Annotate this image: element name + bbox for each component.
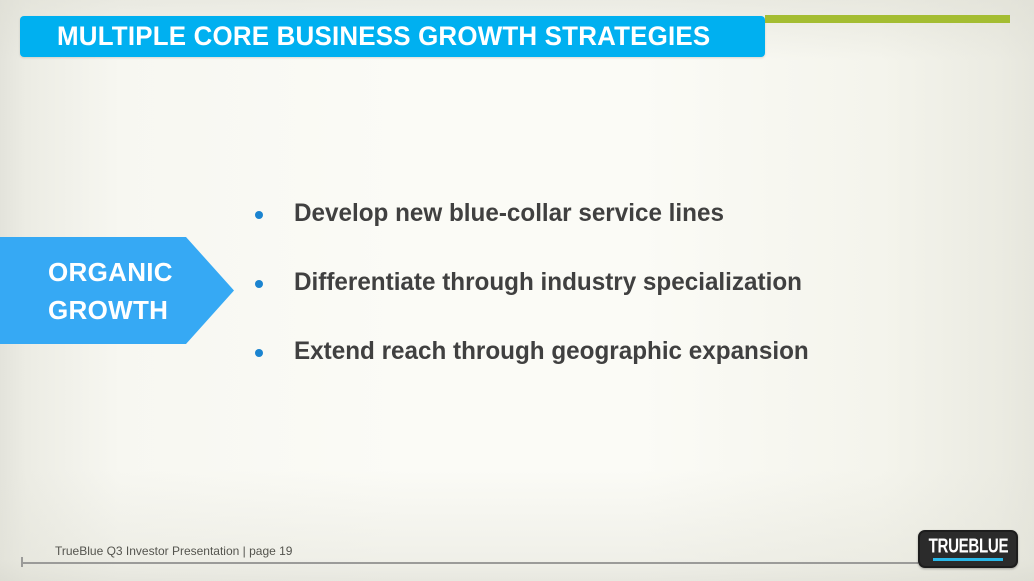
callout-label-line1: ORGANIC bbox=[48, 253, 173, 291]
bullet-text: Differentiate through industry specializ… bbox=[294, 265, 802, 299]
callout-label-line2: GROWTH bbox=[48, 291, 168, 329]
logo-underline-bar bbox=[933, 558, 1003, 561]
organic-growth-arrow-callout: ORGANIC GROWTH bbox=[0, 237, 234, 344]
page-title: MULTIPLE CORE BUSINESS GROWTH STRATEGIES bbox=[57, 21, 710, 52]
logo-wordmark: TRUEBLUE bbox=[928, 536, 1008, 556]
bullet-dot-icon bbox=[255, 211, 263, 219]
bullet-dot-icon bbox=[255, 349, 263, 357]
slide-canvas: MULTIPLE CORE BUSINESS GROWTH STRATEGIES… bbox=[0, 0, 1034, 581]
footer-note: TrueBlue Q3 Investor Presentation | page… bbox=[55, 544, 292, 558]
footer-divider bbox=[21, 562, 918, 564]
list-item: Differentiate through industry specializ… bbox=[255, 265, 975, 334]
bullet-list: Develop new blue-collar service lines Di… bbox=[255, 196, 975, 403]
trueblue-logo: TRUEBLUE bbox=[918, 530, 1018, 568]
green-accent-bar bbox=[765, 15, 1010, 23]
list-item: Develop new blue-collar service lines bbox=[255, 196, 975, 265]
bullet-dot-icon bbox=[255, 280, 263, 288]
list-item: Extend reach through geographic expansio… bbox=[255, 334, 975, 403]
bullet-text: Develop new blue-collar service lines bbox=[294, 196, 724, 230]
bullet-text: Extend reach through geographic expansio… bbox=[294, 334, 809, 368]
slide-title-bar: MULTIPLE CORE BUSINESS GROWTH STRATEGIES bbox=[20, 16, 765, 57]
